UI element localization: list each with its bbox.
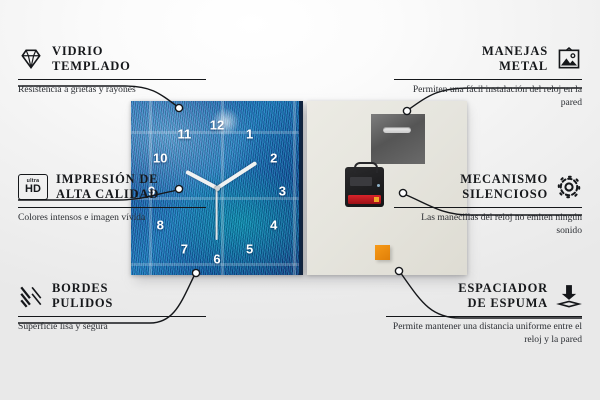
- feature-description: Superficie lisa y segura: [18, 321, 206, 334]
- battery-part: [348, 195, 381, 204]
- arrow-down-layer-icon: [556, 283, 582, 309]
- ultra-hd-icon: ultra HD: [18, 174, 48, 200]
- diamond-icon: [18, 46, 44, 72]
- mechanism-detail: [350, 177, 372, 186]
- ultra-hd-icon-large-label: HD: [25, 184, 41, 196]
- feature-description: Resistencia a grietas y rayones: [18, 84, 206, 97]
- clock-numeral: 5: [246, 242, 253, 255]
- picture-frame-hook-icon: [556, 46, 582, 72]
- clock-numeral: 6: [213, 253, 220, 266]
- clock-numeral: 3: [279, 185, 286, 198]
- feature-bordes-pulidos: BORDES PULIDOS Superficie lisa y segura: [18, 281, 206, 334]
- feature-title-line1: VIDRIO: [52, 44, 131, 59]
- feature-manejas-metal: MANEJAS METAL Permiten una fácil instala…: [394, 44, 582, 110]
- feature-title-line2: SILENCIOSO: [462, 187, 548, 202]
- feature-mecanismo-silencioso: MECANISMO SILENCIOSO Las manecillas del …: [394, 172, 582, 238]
- feature-vidrio-templado: VIDRIO TEMPLADO Resistencia a grietas y …: [18, 44, 206, 97]
- clock-numeral: 12: [210, 119, 224, 132]
- clock-numeral: 11: [177, 128, 191, 141]
- feature-title-line2: METAL: [499, 59, 548, 74]
- feature-divider: [18, 316, 206, 318]
- feature-title-line1: ESPACIADOR: [458, 281, 548, 296]
- gear-icon: [556, 174, 582, 200]
- feature-description: Las manecillas del reloj no emiten ningú…: [394, 212, 582, 238]
- clock-numeral: 10: [153, 152, 167, 165]
- feature-title-line2: PULIDOS: [52, 296, 113, 311]
- feature-divider: [386, 316, 582, 318]
- feature-divider: [394, 79, 582, 81]
- feature-title-line2: TEMPLADO: [52, 59, 131, 74]
- clock-numeral: 1: [246, 128, 253, 141]
- feature-title-line2: ALTA CALIDAD: [56, 187, 159, 202]
- mechanism-loop: [354, 162, 378, 173]
- infographic-canvas: 12 1 2 3 4 5 6 7 8 9 10 11: [0, 0, 600, 400]
- feature-title-line2: DE ESPUMA: [468, 296, 548, 311]
- feature-title-line1: BORDES: [52, 281, 113, 296]
- feature-divider: [18, 207, 206, 209]
- feature-impresion-alta-calidad: ultra HD IMPRESIÓN DE ALTA CALIDAD Color…: [18, 172, 206, 225]
- feature-espaciador-espuma: ESPACIADOR DE ESPUMA Permite mantener un…: [386, 281, 582, 347]
- feature-description: Permite mantener una distancia uniforme …: [386, 321, 582, 347]
- clock-numeral: 7: [181, 242, 188, 255]
- clock-mechanism-part: [345, 167, 384, 207]
- clock-second-hand: [216, 188, 218, 240]
- hanger-slot: [383, 127, 411, 133]
- clock-center-pin: [215, 186, 220, 191]
- diagonal-stripes-icon: [18, 283, 44, 309]
- mechanism-dot: [377, 184, 380, 187]
- feature-title-line1: IMPRESIÓN DE: [56, 172, 159, 187]
- feature-description: Permiten una fácil instalación del reloj…: [394, 84, 582, 110]
- clock-panel-edge: [299, 101, 303, 275]
- foam-spacer-part: [375, 245, 390, 260]
- feature-divider: [394, 207, 582, 209]
- feature-title-line1: MECANISMO: [460, 172, 548, 187]
- clock-numeral: 4: [270, 218, 277, 231]
- feature-title-line1: MANEJAS: [482, 44, 548, 59]
- metal-hanger-part: [371, 114, 425, 164]
- feature-divider: [18, 79, 206, 81]
- feature-description: Colores intensos e imagen vívida: [18, 212, 206, 225]
- clock-numeral: 2: [270, 152, 277, 165]
